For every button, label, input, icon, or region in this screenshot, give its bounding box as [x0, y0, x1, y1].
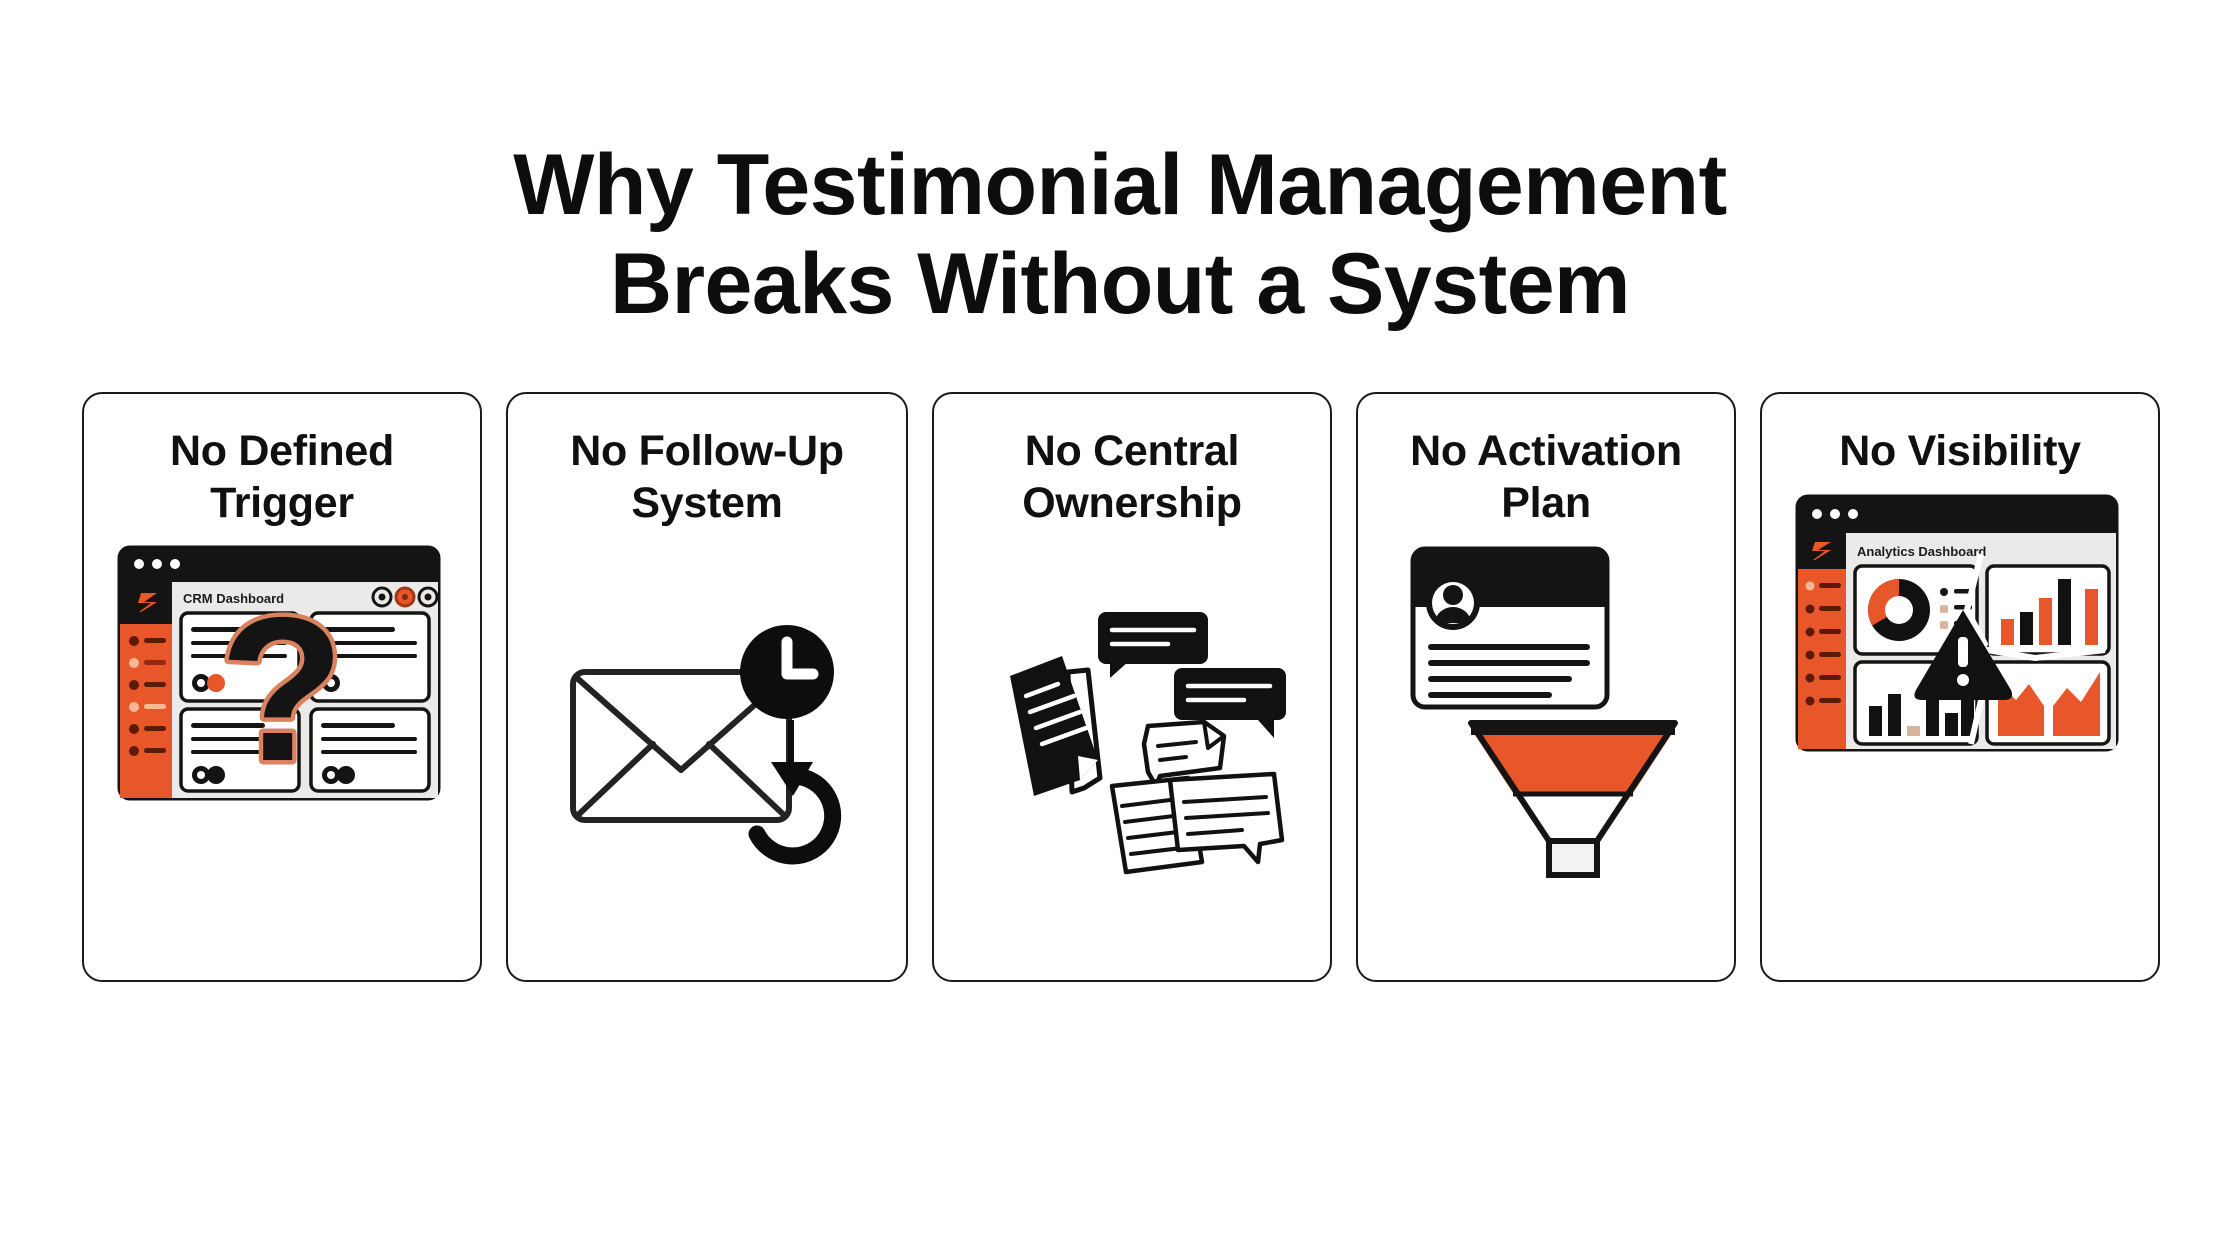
card-title-line-1: No Visibility — [1839, 427, 2080, 475]
envelope-clock-retry-illustration — [557, 620, 857, 860]
analytics-dashboard-illustration: Analytics Dashboard — [1795, 494, 2125, 769]
scattered-documents-illustration — [972, 610, 1292, 870]
card-illustration-profile-funnel — [1358, 529, 1734, 980]
traffic-light-dot-3[interactable] — [170, 559, 180, 569]
traffic-light-dot-1[interactable] — [134, 559, 144, 569]
speech-bubble-outline-icon — [1170, 774, 1282, 862]
crm-dashboard-illustration: CRM Dashboard — [117, 545, 447, 815]
card-title-line-2: Trigger — [210, 479, 354, 527]
profile-card-funnel-illustration — [1401, 545, 1691, 825]
page-title-line-2: Breaks Without a System — [0, 235, 2240, 335]
card-illustration-envelope-clock — [508, 529, 906, 980]
funnel-icon — [1471, 723, 1675, 875]
card-no-defined-trigger[interactable]: No Defined Trigger — [82, 392, 482, 982]
page-title-line-1: Why Testimonial Management — [0, 136, 2240, 236]
card-title-line-2: Plan — [1501, 479, 1591, 527]
card-no-follow-up-system[interactable]: No Follow-Up System — [506, 392, 908, 982]
question-mark-icon: ? — [219, 575, 344, 804]
card-title-line-1: No Defined — [170, 427, 394, 475]
card-no-central-ownership[interactable]: No Central Ownership — [932, 392, 1332, 982]
svg-text:?: ? — [219, 575, 344, 804]
avatar-icon — [1426, 576, 1480, 630]
donut-chart — [1868, 579, 1930, 641]
clock-icon — [740, 625, 834, 719]
card-title-no-defined-trigger: No Defined Trigger — [112, 426, 453, 529]
profile-card-icon — [1413, 549, 1607, 707]
card-title-line-1: No Follow-Up — [570, 427, 843, 475]
card-no-activation-plan[interactable]: No Activation Plan — [1356, 392, 1736, 982]
traffic-light-dot-2[interactable] — [1830, 509, 1840, 519]
card-title-no-activation-plan: No Activation Plan — [1384, 426, 1707, 529]
panel-bar-chart-top[interactable] — [1987, 566, 2109, 654]
card-title-no-follow-up-system: No Follow-Up System — [536, 426, 878, 529]
card-no-visibility[interactable]: No Visibility — [1760, 392, 2160, 982]
card-title-line-1: No Activation — [1410, 427, 1682, 475]
card-title-no-central-ownership: No Central Ownership — [962, 426, 1303, 529]
card-illustration-analytics-dashboard: Analytics Dashboard — [1762, 478, 2158, 980]
traffic-light-dot-1[interactable] — [1812, 509, 1822, 519]
card-title-no-visibility: No Visibility — [1790, 426, 2131, 478]
card-title-line-1: No Central — [1025, 427, 1239, 475]
sidebar-nav[interactable] — [120, 624, 172, 798]
sidebar-nav[interactable] — [1798, 569, 1846, 749]
traffic-light-dot-2[interactable] — [152, 559, 162, 569]
reason-card-row: No Defined Trigger — [82, 392, 2160, 982]
page-title: Why Testimonial Management Breaks Withou… — [0, 136, 2240, 336]
card-title-line-2: System — [631, 479, 782, 527]
traffic-light-dot-3[interactable] — [1848, 509, 1858, 519]
card-title-line-2: Ownership — [1022, 479, 1242, 527]
analytics-window-title: Analytics Dashboard — [1857, 544, 1986, 559]
card-illustration-crm-dashboard: CRM Dashboard — [84, 529, 480, 980]
panel-area-chart[interactable] — [1987, 662, 2109, 744]
card-illustration-documents-bubbles — [934, 529, 1330, 980]
browser-title-bar — [1798, 497, 2116, 533]
